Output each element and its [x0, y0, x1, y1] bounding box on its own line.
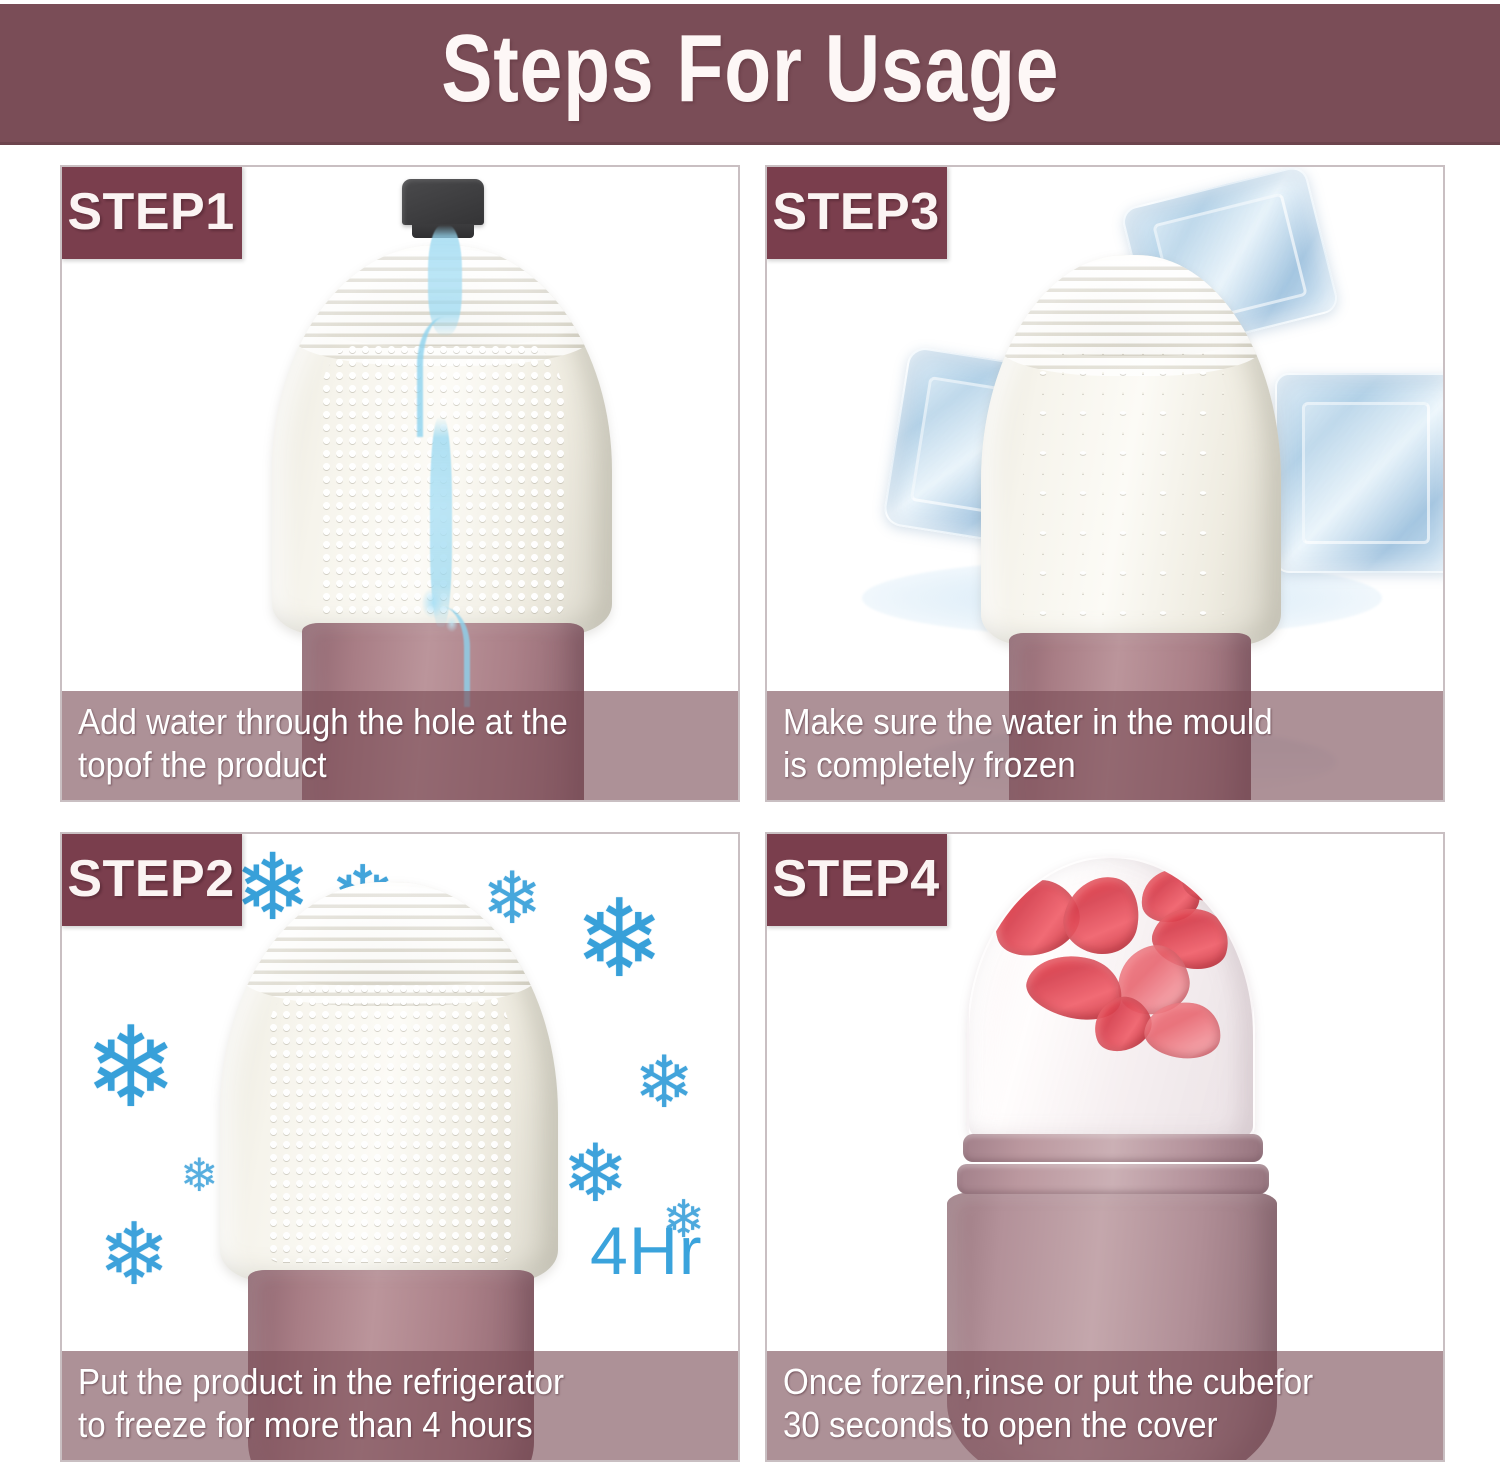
step-panel-4[interactable]: Once forzen,rinse or put the cubefor 30 …	[765, 832, 1445, 1462]
step-4-image: Once forzen,rinse or put the cubefor 30 …	[767, 834, 1443, 1460]
step-panel-3[interactable]: Make sure the water in the mould is comp…	[765, 165, 1445, 802]
caption-line-1: Add water through the hole at the	[78, 701, 672, 743]
holder-rim-lower	[957, 1164, 1269, 1194]
step-1-caption: Add water through the hole at the topof …	[62, 691, 738, 800]
infographic-page: Steps For Usage Ad	[0, 0, 1500, 1470]
water-splash-icon	[407, 575, 471, 645]
step-panel-2[interactable]: ❄ ❄ ❄ ❄ ❄ ❄ ❄ ❄ ❄ ❄ 4Hr	[60, 832, 740, 1462]
caption-line-2: topof the product	[78, 744, 672, 786]
rose-petal-icon-2	[1058, 869, 1147, 961]
step-4-caption: Once forzen,rinse or put the cubefor 30 …	[767, 1351, 1443, 1460]
rose-petal-ice-cube	[967, 856, 1255, 1146]
freeze-time-label: 4Hr	[590, 1212, 703, 1290]
caption-line-1: Make sure the water in the mould	[783, 701, 1377, 743]
caption-line-2: 30 seconds to open the cover	[783, 1404, 1377, 1446]
step-4-badge: STEP4	[765, 832, 947, 926]
product-dots-texture	[267, 982, 510, 1262]
product-dome	[220, 882, 558, 1282]
holder-rim-upper	[963, 1134, 1263, 1162]
caption-line-1: Once forzen,rinse or put the cubefor	[783, 1361, 1377, 1403]
step-3-badge-label: STEP3	[772, 182, 939, 242]
water-stream-wiggle-icon	[417, 317, 463, 437]
plug-icon	[402, 179, 484, 225]
caption-line-2: to freeze for more than 4 hours	[78, 1404, 672, 1446]
snowflake-icon-9: ❄	[98, 1212, 170, 1298]
page-header: Steps For Usage	[0, 4, 1500, 145]
step-1-image: Add water through the hole at the topof …	[62, 167, 738, 800]
step-3-caption: Make sure the water in the mould is comp…	[767, 691, 1443, 800]
snowflake-icon-7: ❄	[562, 1134, 629, 1214]
product-dome	[981, 255, 1281, 645]
caption-line-1: Put the product in the refrigerator	[78, 1361, 672, 1403]
snowflake-icon-5: ❄	[84, 1012, 178, 1124]
step-3-badge: STEP3	[765, 165, 947, 259]
page-title: Steps For Usage	[441, 21, 1059, 125]
snowflake-icon-4: ❄	[574, 886, 665, 994]
step-4-badge-label: STEP4	[772, 849, 939, 909]
step-1-badge-label: STEP1	[67, 182, 234, 242]
caption-line-2: is completely frozen	[783, 744, 1377, 786]
steps-grid: Add water through the hole at the topof …	[60, 165, 1445, 1462]
step-1-badge: STEP1	[60, 165, 242, 259]
step-3-image: Make sure the water in the mould is comp…	[767, 167, 1443, 800]
snowflake-icon-6: ❄	[634, 1046, 694, 1118]
step-2-caption: Put the product in the refrigerator to f…	[62, 1351, 738, 1460]
step-2-image: ❄ ❄ ❄ ❄ ❄ ❄ ❄ ❄ ❄ ❄ 4Hr	[62, 834, 738, 1460]
step-panel-1[interactable]: Add water through the hole at the topof …	[60, 165, 740, 802]
step-2-badge-label: STEP2	[67, 849, 234, 909]
step-2-badge: STEP2	[60, 832, 242, 926]
product-nub-texture	[1023, 353, 1239, 626]
